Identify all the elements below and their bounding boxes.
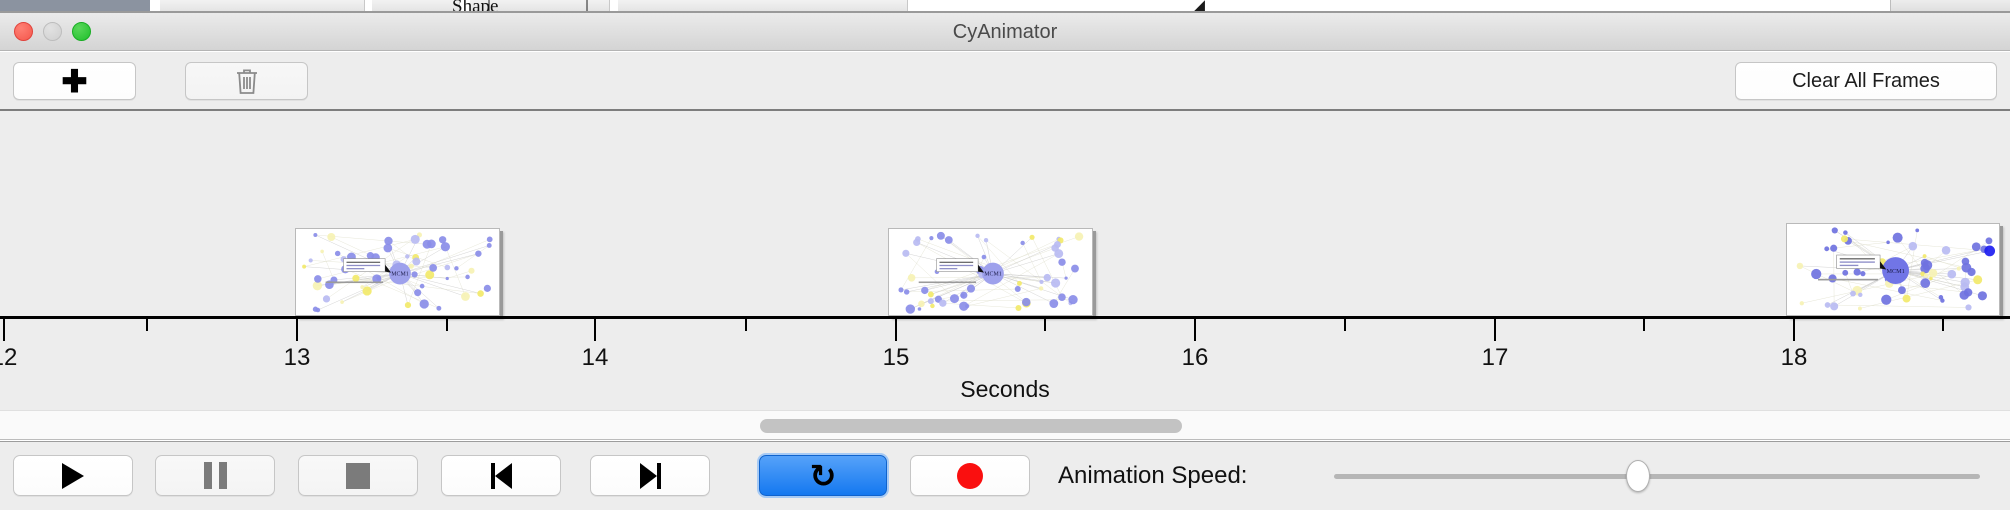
record-button[interactable] xyxy=(910,455,1030,496)
title-bar[interactable]: CyAnimator xyxy=(0,13,2010,51)
axis-tick-major xyxy=(3,319,5,341)
axis-tick-major xyxy=(1194,319,1196,341)
skip-forward-icon xyxy=(640,463,661,489)
trash-icon xyxy=(235,68,259,95)
axis-tick-minor xyxy=(146,319,148,331)
axis-tick-label: 12 xyxy=(0,344,17,372)
stop-icon xyxy=(346,463,370,489)
frames-track[interactable]: MCM1MCM1MCM1 xyxy=(0,111,2010,316)
axis-tick-minor xyxy=(1643,319,1645,331)
axis-tick-major xyxy=(1793,319,1795,341)
record-icon xyxy=(957,463,983,489)
axis-tick-minor xyxy=(446,319,448,331)
plus-icon: ✚ xyxy=(62,66,88,97)
frame-thumbnail-3[interactable]: MCM1 xyxy=(1786,223,2000,316)
timeline-axis: 12131415161718 Seconds xyxy=(0,316,2010,412)
frame-thumbnail-2[interactable]: MCM1 xyxy=(888,228,1093,316)
animation-speed-label: Animation Speed: xyxy=(1058,455,1247,496)
clear-all-frames-label: Clear All Frames xyxy=(1792,70,1940,93)
loop-button[interactable]: ↻ xyxy=(759,455,887,496)
axis-tick-label: 15 xyxy=(883,344,910,372)
clear-all-frames-button[interactable]: Clear All Frames xyxy=(1735,62,1997,100)
axis-tick-label: 17 xyxy=(1482,344,1509,372)
frame-toolbar: ✚ Clear All Frames xyxy=(0,52,2010,109)
animation-speed-slider-thumb[interactable] xyxy=(1626,460,1650,492)
timeline-scrollbar[interactable] xyxy=(0,410,2010,440)
pause-button[interactable] xyxy=(155,455,275,496)
cyanimator-window: | | Shape ◢ CyAnimator ✚ xyxy=(0,0,2010,510)
previous-frame-button[interactable] xyxy=(441,455,561,496)
axis-tick-minor xyxy=(1044,319,1046,331)
axis-tick-major xyxy=(594,319,596,341)
frame-thumbnail-1[interactable]: MCM1 xyxy=(295,228,500,316)
axis-tick-minor xyxy=(1942,319,1944,331)
svg-text:MCM1: MCM1 xyxy=(1886,268,1904,275)
pause-icon xyxy=(204,462,227,489)
background-toolbar-chip xyxy=(0,0,150,11)
axis-tick-label: 16 xyxy=(1182,344,1209,372)
background-window-strip: | | Shape ◢ xyxy=(0,0,2010,13)
scrollbar-thumb[interactable] xyxy=(760,419,1182,433)
axis-tick-major xyxy=(895,319,897,341)
axis-tick-label: 14 xyxy=(582,344,609,372)
axis-tick-major xyxy=(296,319,298,341)
window-title: CyAnimator xyxy=(0,13,2010,51)
svg-text:MCM1: MCM1 xyxy=(391,272,409,278)
axis-tick-minor xyxy=(745,319,747,331)
animation-speed-slider[interactable] xyxy=(1334,474,1980,479)
stop-button[interactable] xyxy=(298,455,418,496)
delete-frame-button[interactable] xyxy=(185,62,308,100)
next-frame-button[interactable] xyxy=(590,455,710,496)
add-frame-button[interactable]: ✚ xyxy=(13,62,136,100)
timeline-panel[interactable]: MCM1MCM1MCM1 12131415161718 Seconds xyxy=(0,109,2010,410)
playback-toolbar: ↻ Animation Speed: xyxy=(0,441,2010,510)
axis-tick-major xyxy=(1494,319,1496,341)
skip-back-icon xyxy=(491,463,512,489)
axis-tick-label: 13 xyxy=(284,344,311,372)
play-button[interactable] xyxy=(13,455,133,496)
play-icon xyxy=(62,463,84,489)
loop-icon: ↻ xyxy=(810,460,837,492)
axis-line xyxy=(0,316,2010,319)
svg-text:MCM1: MCM1 xyxy=(984,272,1002,278)
axis-tick-minor xyxy=(1344,319,1346,331)
axis-tick-label: 18 xyxy=(1781,344,1808,372)
axis-title: Seconds xyxy=(0,376,2010,403)
